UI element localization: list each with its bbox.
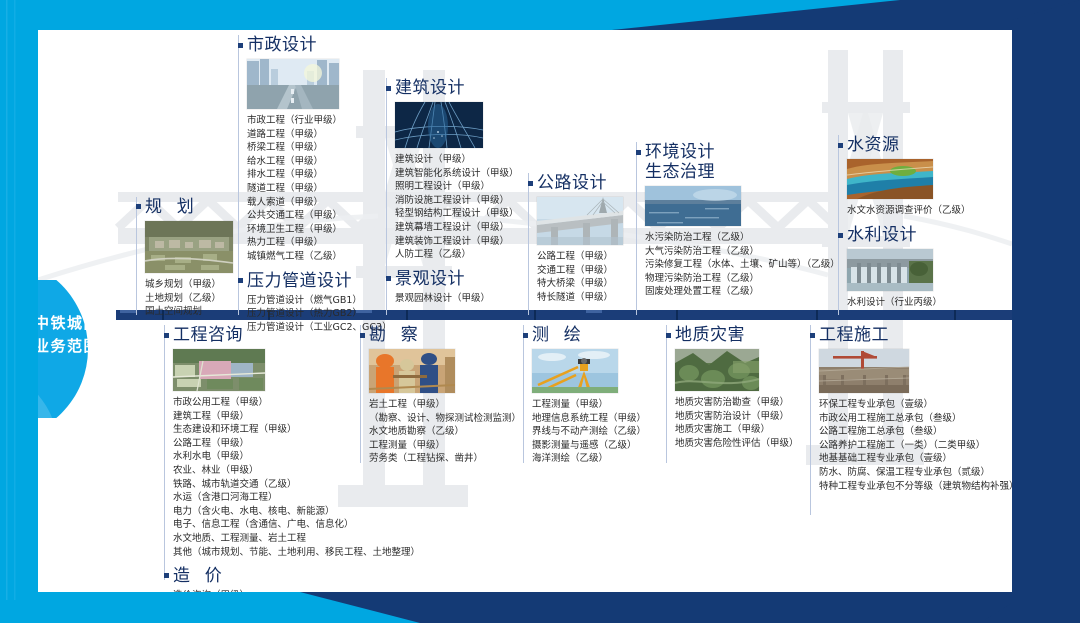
- planning-item-list: 城乡规划（甲级） 土地规划（乙级） 国土空间规划: [145, 278, 233, 319]
- consulting-thumbnail: [173, 349, 265, 391]
- list-item: 农业、林业（甲级）: [173, 464, 420, 478]
- list-item: 公路工程（甲级）: [537, 250, 623, 264]
- list-item: 载人索道（甲级）: [247, 196, 392, 210]
- list-item: 市政公用工程施工总承包（叁级）: [819, 412, 1012, 426]
- node-title: 水资源: [847, 135, 971, 155]
- list-item: 电子、信息工程（含通信、广电、信息化）: [173, 518, 420, 532]
- construction-thumbnail: [819, 349, 909, 393]
- list-item: 市政工程（行业甲级）: [247, 114, 392, 128]
- architecture-thumbnail: [395, 102, 483, 148]
- list-item: 压力管道设计（燃气GB1）: [247, 294, 392, 308]
- list-item: 轻型钢结构工程设计（甲级）: [395, 207, 519, 221]
- list-item: 道路工程（甲级）: [247, 128, 392, 142]
- node-title: 公路设计: [537, 173, 623, 193]
- highway-thumbnail: [537, 197, 623, 245]
- mapping-item-list: 工程测量（甲级） 地理信息系统工程（甲级） 界线与不动产测绘（乙级） 摄影测量与…: [532, 398, 646, 466]
- list-item: 铁路、城市轨道交通（乙级）: [173, 478, 420, 492]
- list-item: 水文地质勘察（乙级）: [369, 425, 521, 439]
- list-item: 压力管道设计（热力GB2）: [247, 307, 392, 321]
- water-conservancy-item-list: 水利设计（行业丙级）: [847, 296, 942, 310]
- list-item: 地质灾害防治设计（甲级）: [675, 410, 799, 424]
- list-item: 隧道工程（甲级）: [247, 182, 392, 196]
- node-title: 工程施工: [819, 325, 1012, 345]
- list-item: 公共交通工程（甲级）: [247, 209, 392, 223]
- dam-thumbnail: [847, 249, 933, 291]
- list-item: 国土空间规划: [145, 305, 233, 319]
- list-item: 公路工程施工总承包（叁级）: [819, 425, 1012, 439]
- list-item: 防水、防腐、保温工程专业承包（贰级）: [819, 466, 1012, 480]
- list-item: 地基基础工程专业承包（壹级）: [819, 452, 1012, 466]
- list-item: 大气污染防治工程（乙级）: [645, 245, 840, 259]
- planning-thumbnail: [145, 221, 233, 273]
- list-item: 特长隧道（甲级）: [537, 291, 623, 305]
- node-title: 建筑设计: [395, 78, 519, 98]
- list-item: 海洋测绘（乙级）: [532, 452, 646, 466]
- list-item: 热力工程（甲级）: [247, 236, 392, 250]
- mapping-thumbnail: [532, 349, 618, 393]
- subnode-title: 压力管道设计: [247, 271, 392, 291]
- list-item: 物理污染防治工程（乙级）: [645, 272, 840, 286]
- list-item: 地理信息系统工程（甲级）: [532, 412, 646, 426]
- list-item: 地质灾害危险性评估（甲级）: [675, 437, 799, 451]
- node-title: 水利设计: [847, 225, 942, 245]
- list-item: 水文地质、工程测量、岩土工程: [173, 532, 420, 546]
- infographic-canvas: 中铁城际 业务范围 规 划: [38, 30, 1012, 592]
- list-item: 电力（含火电、水电、核电、新能源）: [173, 505, 420, 519]
- municipal-item-list: 市政工程（行业甲级） 道路工程（甲级） 桥梁工程（甲级） 给水工程（甲级） 排水…: [247, 114, 392, 264]
- subnode-landscape-design[interactable]: 景观设计 景观园林设计（甲级）: [395, 269, 519, 306]
- survey-thumbnail: [369, 349, 455, 393]
- list-item: 污染修复工程（水体、土壤、矿山等）（乙级）: [645, 258, 840, 272]
- list-item: 交通工程（甲级）: [537, 264, 623, 278]
- list-item: 水利设计（行业丙级）: [847, 296, 942, 310]
- water-resources-item-list: 水文水资源调查评价（乙级）: [847, 204, 971, 218]
- landscape-item-list: 景观园林设计（甲级）: [395, 292, 519, 306]
- list-item: 城镇燃气工程（乙级）: [247, 250, 392, 264]
- list-item: 工程测量（甲级）: [532, 398, 646, 412]
- list-item: 水污染防治工程（乙级）: [645, 231, 840, 245]
- list-item: 城乡规划（甲级）: [145, 278, 233, 292]
- water-resources-thumbnail: [847, 159, 933, 199]
- list-item: 消防设施工程设计（甲级）: [395, 194, 519, 208]
- list-item: 地质灾害防治勘查（甲级）: [675, 396, 799, 410]
- list-item: 给水工程（甲级）: [247, 155, 392, 169]
- list-item: 土地规划（乙级）: [145, 292, 233, 306]
- list-item: 摄影测量与遥感（乙级）: [532, 439, 646, 453]
- environment-thumbnail: [645, 186, 741, 226]
- highway-item-list: 公路工程（甲级） 交通工程（甲级） 特大桥梁（甲级） 特长隧道（甲级）: [537, 250, 623, 304]
- list-item: 水运（含港口河海工程）: [173, 491, 420, 505]
- list-item: 地质灾害施工（甲级）: [675, 423, 799, 437]
- list-item: 固废处理处置工程（乙级）: [645, 285, 840, 299]
- list-item: 照明工程设计（甲级）: [395, 180, 519, 194]
- list-item: 特大桥梁（甲级）: [537, 277, 623, 291]
- list-item: 界线与不动产测绘（乙级）: [532, 425, 646, 439]
- cost-item-list: 造价咨询（甲级）: [173, 589, 420, 592]
- list-item: 环境卫生工程（甲级）: [247, 223, 392, 237]
- list-item: 公路养护工程施工（一类）（二类甲级）: [819, 439, 1012, 453]
- list-item: 建筑智能化系统设计（甲级）: [395, 167, 519, 181]
- list-item: 人防工程（乙级）: [395, 248, 519, 262]
- municipal-thumbnail: [247, 59, 339, 109]
- list-item: 建筑幕墙工程设计（甲级）: [395, 221, 519, 235]
- badge-line-2: 业务范围: [38, 335, 142, 358]
- list-item: 工程测量（甲级）: [369, 439, 521, 453]
- node-title: 测 绘: [532, 325, 646, 345]
- list-item: 环保工程专业承包（壹级）: [819, 398, 1012, 412]
- construction-item-list: 环保工程专业承包（壹级） 市政公用工程施工总承包（叁级） 公路工程施工总承包（叁…: [819, 398, 1012, 493]
- list-item: （勘察、设计、物探测试检测监测）: [369, 412, 521, 426]
- geological-hazard-item-list: 地质灾害防治勘查（甲级） 地质灾害防治设计（甲级） 地质灾害施工（甲级） 地质灾…: [675, 396, 799, 450]
- subnode-title: 造 价: [173, 566, 420, 586]
- node-title: 地质灾害: [675, 325, 799, 345]
- list-item: 岩土工程（甲级）: [369, 398, 521, 412]
- list-item: 水文水资源调查评价（乙级）: [847, 204, 971, 218]
- environment-item-list: 水污染防治工程（乙级） 大气污染防治工程（乙级） 污染修复工程（水体、土壤、矿山…: [645, 231, 840, 299]
- center-badge: 中铁城际 业务范围: [38, 280, 160, 418]
- node-title: 勘 察: [369, 325, 521, 345]
- list-item: 景观园林设计（甲级）: [395, 292, 519, 306]
- architecture-item-list: 建筑设计（甲级） 建筑智能化系统设计（甲级） 照明工程设计（甲级） 消防设施工程…: [395, 153, 519, 262]
- node-title: 市政设计: [247, 35, 392, 55]
- list-item: 建筑装饰工程设计（甲级）: [395, 235, 519, 249]
- subnode-title: 景观设计: [395, 269, 519, 289]
- list-item: 劳务类（工程钻探、凿井）: [369, 452, 521, 466]
- list-item: 其他（城市规划、节能、土地利用、移民工程、土地整理）: [173, 546, 420, 560]
- geological-hazard-thumbnail: [675, 349, 759, 391]
- survey-item-list: 岩土工程（甲级） （勘察、设计、物探测试检测监测） 水文地质勘察（乙级） 工程测…: [369, 398, 521, 466]
- list-item: 特种工程专业承包不分等级（建筑物结构补强）: [819, 480, 1012, 494]
- node-title: 规 划: [145, 197, 233, 217]
- list-item: 排水工程（甲级）: [247, 168, 392, 182]
- node-title-line2: 生态治理: [645, 162, 840, 182]
- subnode-cost-estimation[interactable]: 造 价 造价咨询（甲级）: [173, 566, 420, 592]
- node-title: 环境设计: [645, 142, 840, 162]
- list-item: 桥梁工程（甲级）: [247, 141, 392, 155]
- list-item: 造价咨询（甲级）: [173, 589, 420, 592]
- list-item: 建筑设计（甲级）: [395, 153, 519, 167]
